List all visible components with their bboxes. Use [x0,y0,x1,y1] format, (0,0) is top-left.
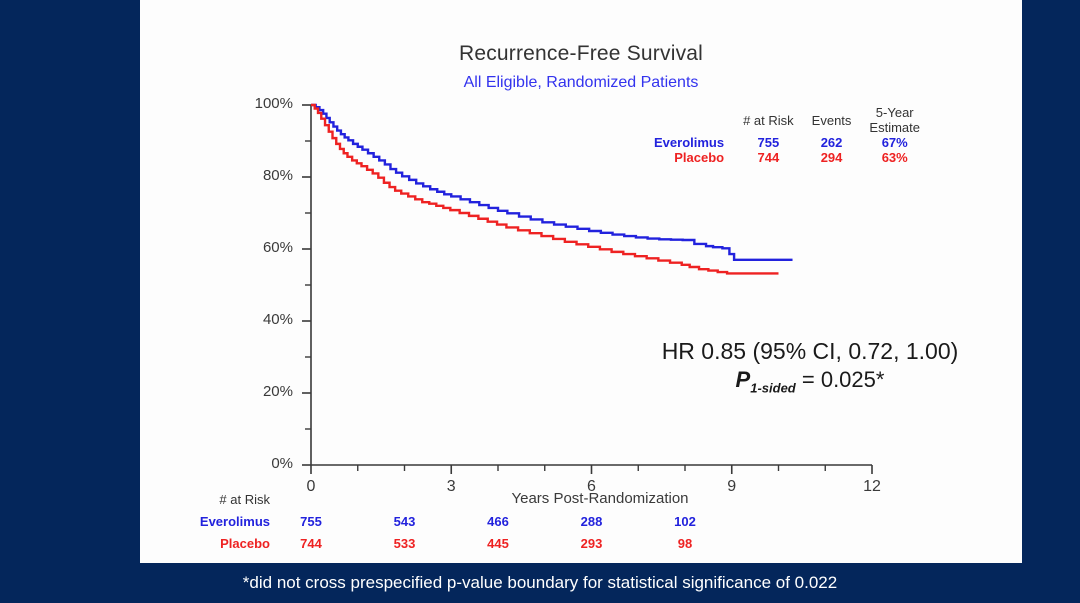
risk-value: 102 [665,514,705,529]
risk-row-placebo: Placebo 74453344529398 [140,536,1022,558]
risk-row-label-everolimus: Everolimus [140,514,270,529]
hr-value-line: HR 0.85 (95% CI, 0.72, 1.00) [610,338,1010,365]
y-tick-label: 20% [233,383,293,400]
hazard-ratio-annotation: HR 0.85 (95% CI, 0.72, 1.00) P1-sided = … [610,338,1010,395]
risk-header-label: # at Risk [140,492,270,507]
summary-row-placebo: Placebo 744 294 63% [645,150,929,165]
header-five-year-line2: Estimate [869,120,920,135]
risk-value: 466 [478,514,518,529]
summary-events-placebo: 294 [803,150,861,165]
summary-table-element: # at Risk Events 5-Year Estimate Everoli… [645,105,929,165]
risk-row-everolimus: Everolimus 755543466288102 [140,514,1022,536]
risk-value: 755 [291,514,331,529]
risk-value: 533 [385,536,425,551]
header-five-year-line1: 5-Year [869,105,920,120]
summary-five-year-everolimus: 67% [860,135,929,150]
risk-value: 744 [291,536,331,551]
summary-table-header-row: # at Risk Events 5-Year Estimate [645,105,929,135]
summary-row-everolimus: Everolimus 755 262 67% [645,135,929,150]
risk-value: 98 [665,536,705,551]
y-tick-label: 100% [233,95,293,112]
y-tick-label: 80% [233,167,293,184]
p-value-text: = 0.025* [802,367,885,392]
y-tick-label: 40% [233,311,293,328]
summary-at-risk-placebo: 744 [734,150,803,165]
summary-label-placebo: Placebo [645,150,734,165]
p-value-line: P1-sided = 0.025* [610,367,1010,395]
slide-footnote: *did not cross prespecified p-value boun… [0,563,1080,603]
slide-root: Recurrence-Free Survival All Eligible, R… [0,0,1080,603]
p-symbol: P [736,367,751,392]
summary-corner-cell [645,105,734,135]
chart-panel: Recurrence-Free Survival All Eligible, R… [140,0,1022,563]
risk-row-label-placebo: Placebo [140,536,270,551]
summary-events-everolimus: 262 [803,135,861,150]
risk-value: 293 [572,536,612,551]
header-events: Events [803,105,861,135]
summary-label-everolimus: Everolimus [645,135,734,150]
p-subscript: 1-sided [750,380,796,395]
summary-at-risk-everolimus: 755 [734,135,803,150]
bottom-at-risk-table: # at Risk Everolimus 755543466288102 Pla… [140,492,1022,558]
risk-header-row: # at Risk [140,492,1022,514]
y-tick-label: 60% [233,239,293,256]
y-tick-label: 0% [233,455,293,472]
summary-risk-table: # at Risk Events 5-Year Estimate Everoli… [645,105,929,165]
risk-value: 445 [478,536,518,551]
header-five-year: 5-Year Estimate [860,105,929,135]
header-at-risk: # at Risk [734,105,803,135]
summary-five-year-placebo: 63% [860,150,929,165]
risk-value: 543 [385,514,425,529]
risk-value: 288 [572,514,612,529]
